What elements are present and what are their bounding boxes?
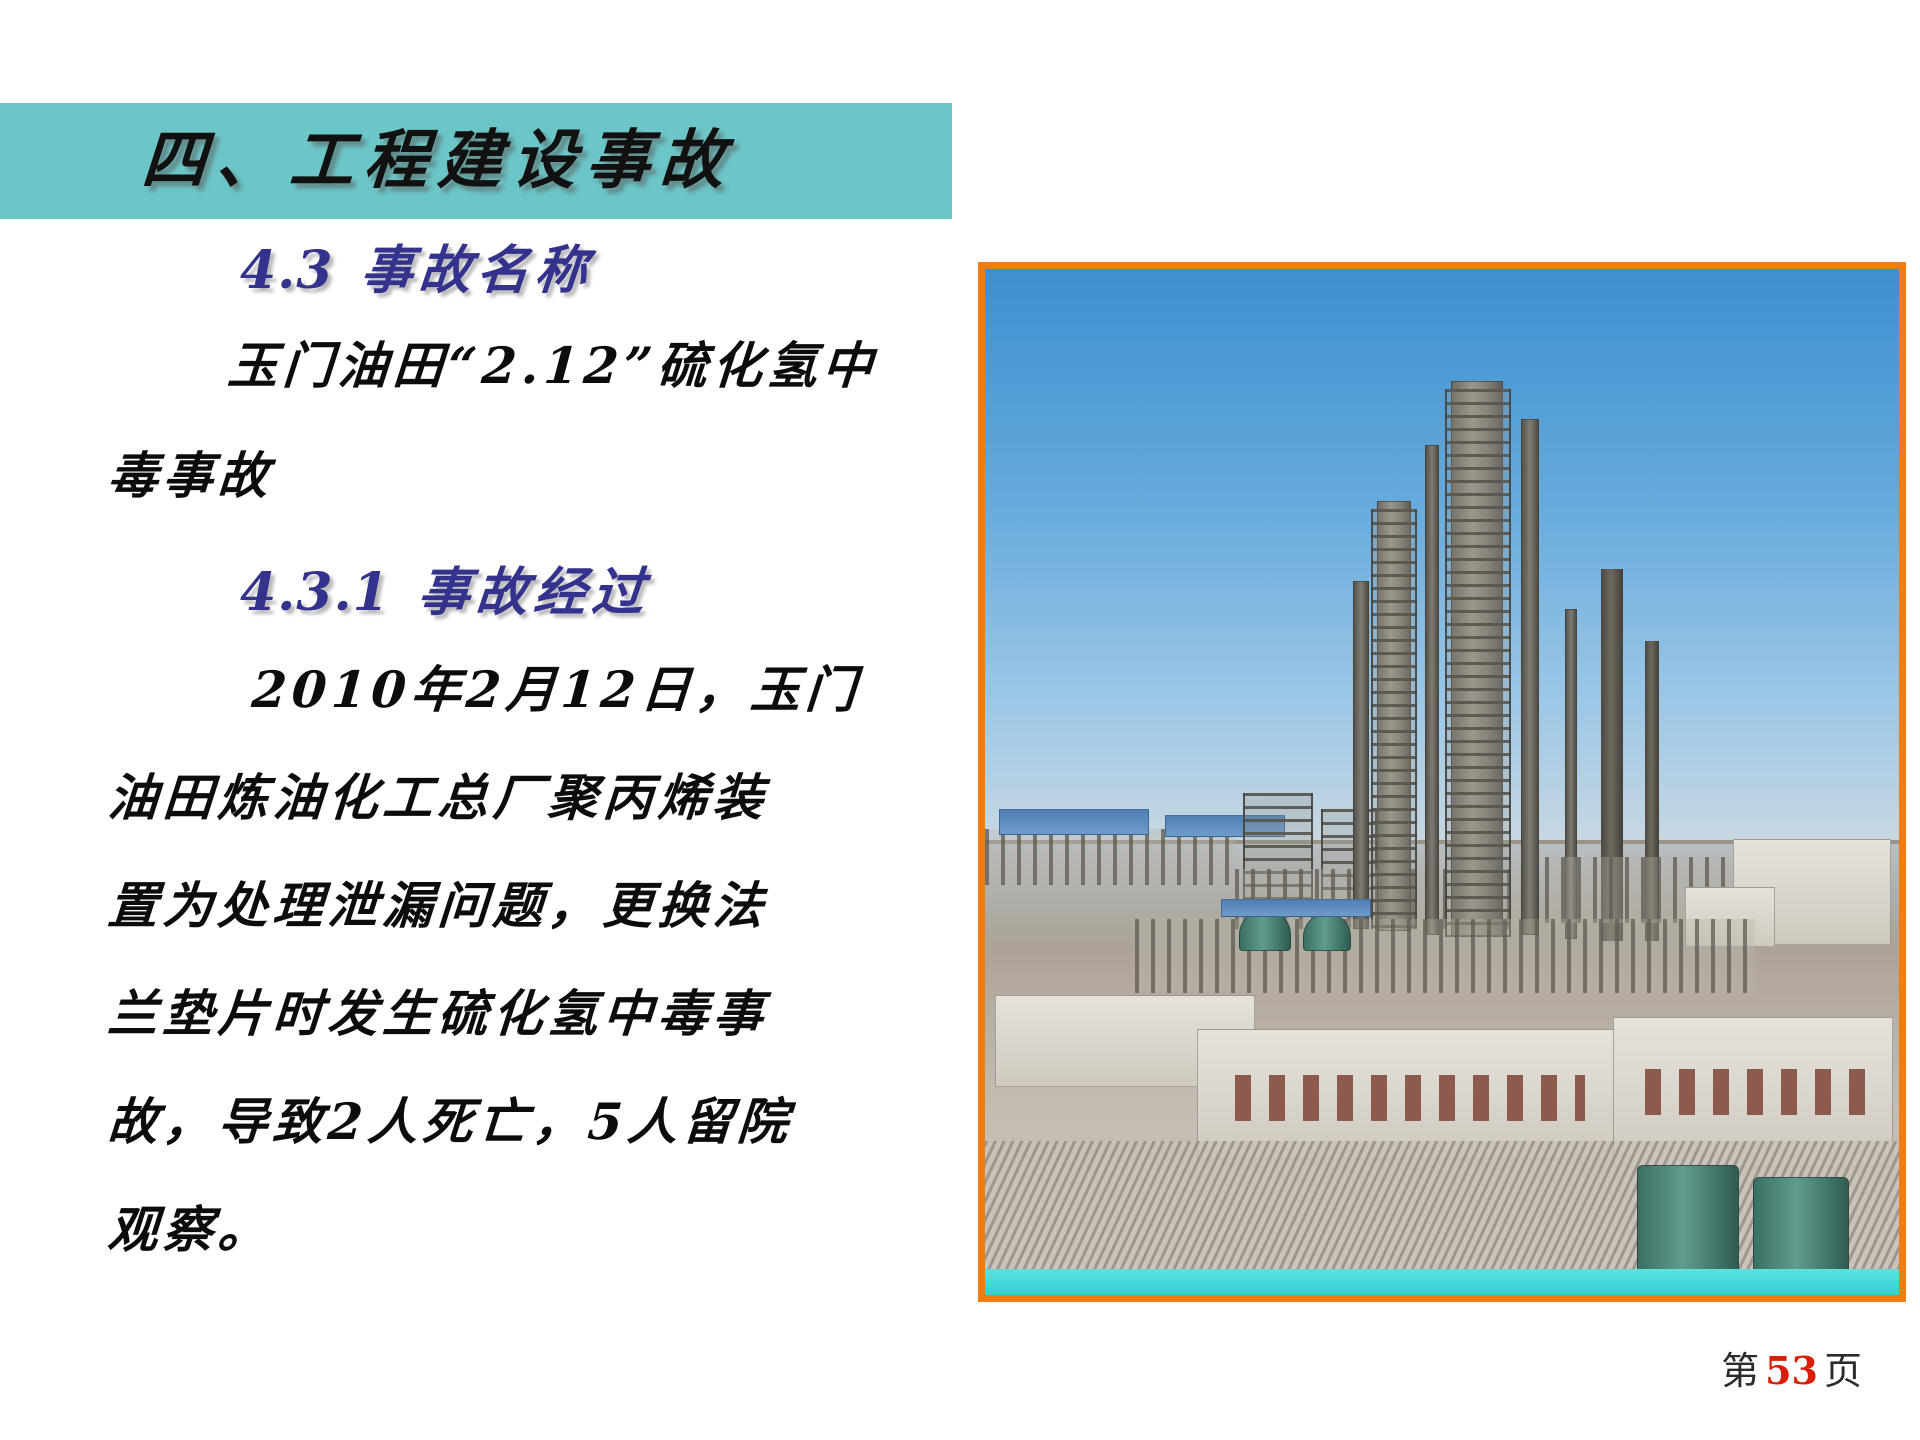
photo-blue-roof [1221, 899, 1371, 917]
page-number-prefix: 第 [1721, 1349, 1759, 1393]
heading-4-3-label: 事故名称 [359, 240, 596, 302]
accident-name-line-2: 毒事故 [106, 446, 275, 506]
slide-root: 四、工程建设事故 4.3事故名称 玉门油田“2.12”硫化氢中 毒事故 4.3.… [0, 0, 1920, 1440]
page-number-suffix: 页 [1824, 1349, 1862, 1393]
description-line-6: 观察。 [106, 1200, 275, 1260]
photo-column [1521, 419, 1539, 935]
photo-tank [1637, 1165, 1739, 1273]
text-column: 4.3事故名称 玉门油田“2.12”硫化氢中 毒事故 4.3.1事故经过 201… [0, 240, 960, 1350]
photo-column [1353, 581, 1369, 929]
photo-pipe-row [985, 829, 1235, 885]
heading-4-3: 4.3事故名称 [240, 240, 593, 302]
accident-name-line-1: 玉门油田“2.12”硫化氢中 [226, 336, 879, 396]
description-line-2: 油田炼油化工总厂聚丙烯装 [106, 768, 770, 828]
photo-building-windows [1645, 1069, 1871, 1115]
heading-4-3-1-number: 4.3.1 [240, 562, 390, 623]
photo-tank [1753, 1177, 1849, 1273]
description-line-3: 置为处理泄漏问题，更换法 [106, 876, 770, 936]
heading-4-3-number: 4.3 [240, 240, 333, 301]
section-title-band: 四、工程建设事故 [0, 103, 952, 219]
photo-pipe-row [1135, 919, 1755, 993]
page-title: 四、工程建设事故 [139, 121, 737, 201]
refinery-photo-content [985, 269, 1899, 1295]
photo-lattice [1445, 389, 1511, 937]
photo-building-windows [1235, 1075, 1585, 1121]
refinery-photo [978, 262, 1906, 1302]
heading-4-3-1: 4.3.1事故经过 [240, 562, 650, 624]
page-number: 第53页 [1721, 1348, 1862, 1394]
page-number-value: 53 [1765, 1348, 1818, 1393]
description-line-5: 故，导致2人死亡，5人留院 [106, 1092, 795, 1152]
photo-lattice [1371, 509, 1417, 929]
heading-4-3-1-label: 事故经过 [415, 562, 652, 624]
photo-blue-roof [999, 809, 1149, 835]
description-line-4: 兰垫片时发生硫化氢中毒事 [106, 984, 770, 1044]
photo-column [1425, 445, 1439, 935]
photo-bottom-strip [985, 1269, 1899, 1295]
description-line-1: 2010年2月12日，玉门 [250, 660, 863, 720]
